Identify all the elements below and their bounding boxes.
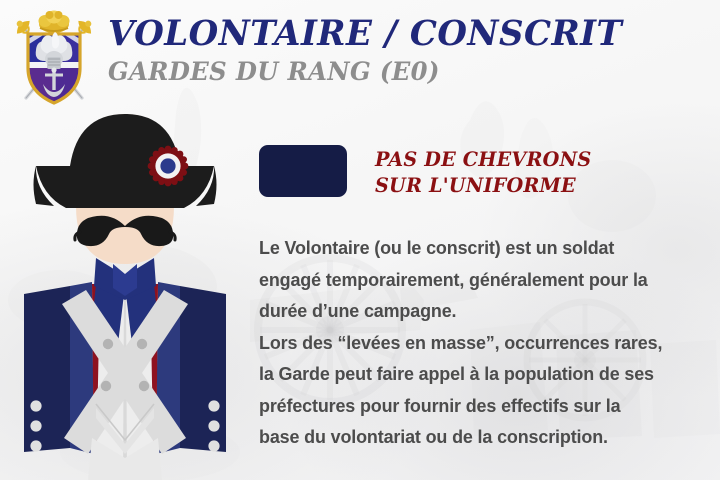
description-line: la Garde peut faire appel à la populatio… — [259, 358, 687, 390]
uniform-note-line1: PAS DE CHEVRONS — [375, 147, 591, 173]
page-title: VOLONTAIRE / CONSCRIT — [108, 16, 622, 53]
description-line: base du volontariat ou de la conscriptio… — [259, 421, 687, 453]
card-header: VOLONTAIRE / CONSCRIT GARDES DU RANG (E0… — [0, 0, 720, 112]
description-text: Le Volontaire (ou le conscrit) est un so… — [259, 232, 687, 453]
uniform-note: PAS DE CHEVRONS SUR L'UNIFORME — [375, 147, 591, 198]
description-line: Le Volontaire (ou le conscrit) est un so… — [259, 232, 687, 264]
uniform-note-line2: SUR L'UNIFORME — [375, 173, 591, 199]
description-line: engagé temporairement, généralement pour… — [259, 264, 687, 296]
description-line: durée d’une campagne. — [259, 295, 687, 327]
bicorne-hat-icon — [34, 114, 217, 208]
tricolor-cockade-icon — [148, 146, 189, 187]
rank-color-swatch — [259, 145, 347, 197]
soldier-illustration — [0, 108, 250, 480]
description-line: Lors des “levées en masse”, occurrences … — [259, 327, 687, 359]
title-block: VOLONTAIRE / CONSCRIT GARDES DU RANG (E0… — [108, 16, 638, 85]
description-line: préfectures pour fournir des effectifs s… — [259, 390, 687, 422]
rank-card: VOLONTAIRE / CONSCRIT GARDES DU RANG (E0… — [0, 0, 720, 480]
heraldic-shield-crossed-swords-icon — [8, 6, 100, 110]
page-subtitle: GARDES DU RANG (E0) — [108, 58, 622, 86]
